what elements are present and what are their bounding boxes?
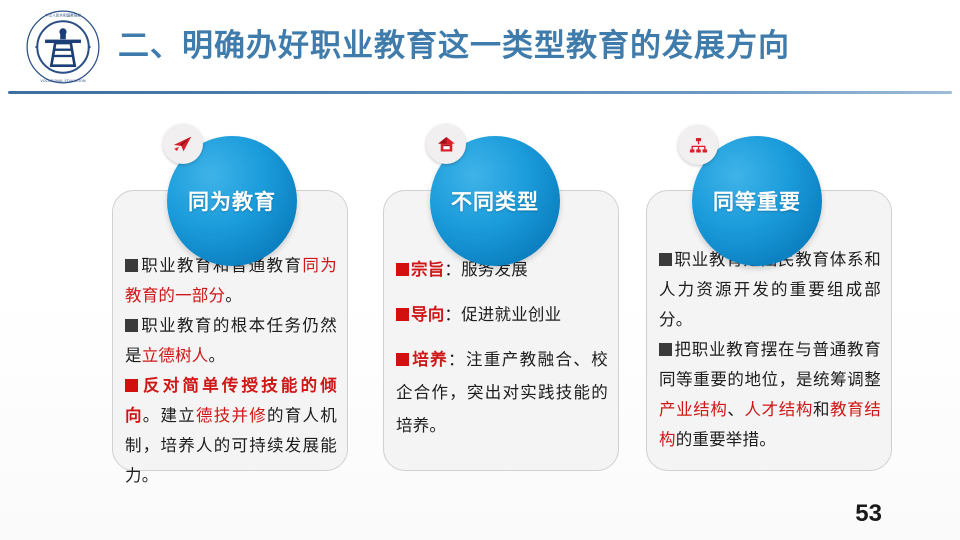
bullet-square-icon [659,343,672,356]
bullet-square-icon [396,308,409,321]
bullet-square-icon [125,259,138,272]
text-run: 导向 [411,305,444,324]
text-run: 、 [727,400,744,419]
text-run: 把职业教育摆在与普通教育同等重要的地位，是统筹调整 [659,340,881,389]
circle-heading-1-label: 同为教育 [188,186,276,216]
university-seal-logo: 中华人民共和国教育部 VOCATIONAL EDUCATION [24,8,102,86]
svg-text:中华人民共和国教育部: 中华人民共和国教育部 [45,13,81,18]
bullet-square-icon [125,379,138,392]
card-1-body: 职业教育和普通教育同为教育的一部分。职业教育的根本任务仍然是立德树人。反对简单传… [125,251,337,491]
page-number: 53 [855,500,882,528]
text-run: 的重要举措。 [676,430,776,449]
card-2-body: 宗旨：服务发展导向：促进就业创业培养：注重产教融合、校企合作，突出对实践技能的培… [396,253,608,442]
text-run: 培养 [411,350,448,369]
card-1-paragraph-2: 职业教育的根本任务仍然是立德树人。 [125,311,337,371]
text-run: 。建立 [143,406,196,425]
card-3-body: 职业教育是国民教育体系和人力资源开发的重要组成部分。把职业教育摆在与普通教育同等… [659,245,881,455]
org-chart-icon [678,125,718,165]
circle-heading-2-label: 不同类型 [451,186,539,216]
bullet-square-icon [659,253,672,266]
text-run: 产业结构 [659,400,727,419]
page-title: 二、明确办好职业教育这一类型教育的发展方向 [118,22,790,70]
slide-header: 中华人民共和国教育部 VOCATIONAL EDUCATION 二、明确办好职业… [0,0,960,94]
text-run: ：促进就业创业 [444,305,561,324]
bullet-square-icon [396,353,409,366]
text-run: 德技并修 [196,406,267,425]
text-run: 宗旨 [411,260,444,279]
slide-canvas: 中华人民共和国教育部 VOCATIONAL EDUCATION 二、明确办好职业… [0,0,960,540]
text-run: 人才结构 [745,400,813,419]
text-run: 和 [813,400,830,419]
circle-heading-3-label: 同等重要 [713,186,801,216]
card-3-paragraph-2: 把职业教育摆在与普通教育同等重要的地位，是统筹调整产业结构、人才结构和教育结构的… [659,335,881,455]
text-run: 。 [209,346,226,365]
paper-plane-icon [163,124,203,164]
text-run: 。 [225,286,242,305]
text-run: 立德树人 [142,346,209,365]
home-icon [426,124,466,164]
svg-text:VOCATIONAL EDUCATION: VOCATIONAL EDUCATION [40,79,86,83]
bullet-square-icon [396,263,409,276]
card-2-paragraph-3: 培养：注重产教融合、校企合作，突出对实践技能的培养。 [396,343,608,442]
card-1-paragraph-3: 反对简单传授技能的倾向。建立德技并修的育人机制，培养人的可持续发展能力。 [125,371,337,491]
card-2-paragraph-2: 导向：促进就业创业 [396,298,608,331]
bullet-square-icon [125,319,138,332]
content-cards-area: 职业教育和普通教育同为教育的一部分。职业教育的根本任务仍然是立德树人。反对简单传… [0,94,960,494]
